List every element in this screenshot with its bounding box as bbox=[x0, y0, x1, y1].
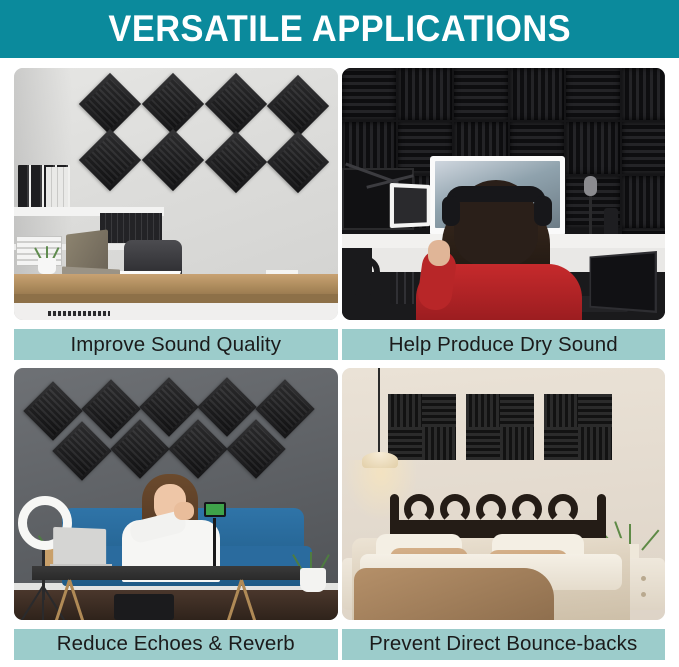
photo-bedroom bbox=[342, 368, 666, 620]
foam-tile bbox=[342, 68, 396, 120]
panel-prevent-direct-bounce-backs: Prevent Direct Bounce-backs bbox=[342, 368, 666, 662]
panel-improve-sound-quality: Improve Sound Quality bbox=[14, 68, 338, 362]
desk-power-strip bbox=[48, 311, 110, 316]
acoustic-panel-square bbox=[388, 394, 456, 460]
photo-content-creator bbox=[14, 368, 338, 620]
acoustic-panel-square bbox=[544, 394, 612, 460]
versatile-applications-infographic: VERSATILE APPLICATIONS bbox=[0, 0, 679, 667]
header-banner: VERSATILE APPLICATIONS bbox=[0, 0, 679, 58]
throw-blanket bbox=[354, 568, 554, 620]
side-monitor bbox=[389, 183, 429, 228]
foam-tile bbox=[622, 68, 666, 120]
wooden-desk bbox=[14, 274, 338, 294]
laptop-screen bbox=[53, 526, 106, 568]
phone-mount-rod bbox=[213, 518, 216, 566]
photo-podcast-studio bbox=[342, 68, 666, 320]
desk-trestle-right bbox=[224, 580, 258, 620]
page-title: VERSATILE APPLICATIONS bbox=[108, 10, 571, 49]
plant-pot bbox=[38, 258, 56, 274]
pendant-lamp-cord bbox=[378, 368, 380, 452]
foam-tile bbox=[566, 68, 620, 120]
person-hand bbox=[174, 502, 194, 520]
pendant-lamp-shade bbox=[362, 452, 398, 468]
headphones-band bbox=[446, 186, 546, 202]
smartphone bbox=[204, 502, 226, 517]
foam-tile bbox=[510, 68, 564, 120]
photo-home-office bbox=[14, 68, 338, 320]
panel-reduce-echoes-reverb: Reduce Echoes & Reverb bbox=[14, 368, 338, 662]
headphone-cup-right bbox=[534, 196, 552, 226]
foam-tile bbox=[398, 68, 452, 120]
applications-grid: Improve Sound Quality bbox=[0, 58, 679, 667]
headphone-cup-left bbox=[442, 196, 460, 226]
foam-tile bbox=[622, 122, 666, 174]
desk-trestle-left bbox=[52, 580, 86, 620]
caption-help-produce-dry-sound: Help Produce Dry Sound bbox=[342, 329, 666, 360]
caption-reduce-echoes-reverb: Reduce Echoes & Reverb bbox=[14, 629, 338, 660]
acoustic-panel-square bbox=[466, 394, 534, 460]
corner-plant-pot bbox=[300, 568, 326, 592]
foam-tile bbox=[622, 176, 666, 228]
caption-prevent-direct-bounce-backs: Prevent Direct Bounce-backs bbox=[342, 629, 666, 660]
person-hand bbox=[428, 240, 450, 266]
desk-edge bbox=[14, 294, 338, 303]
laptop bbox=[589, 251, 656, 313]
foam-tile bbox=[566, 122, 620, 174]
dark-desk bbox=[32, 566, 300, 580]
foam-tile bbox=[454, 68, 508, 120]
microphone bbox=[584, 176, 597, 196]
headphone-stand bbox=[346, 256, 380, 296]
foreground-camera bbox=[114, 594, 174, 620]
desk-organizer bbox=[100, 213, 162, 243]
binder-row-light bbox=[46, 167, 68, 208]
caption-improve-sound-quality: Improve Sound Quality bbox=[14, 329, 338, 360]
panel-help-produce-dry-sound: Help Produce Dry Sound bbox=[342, 68, 666, 362]
